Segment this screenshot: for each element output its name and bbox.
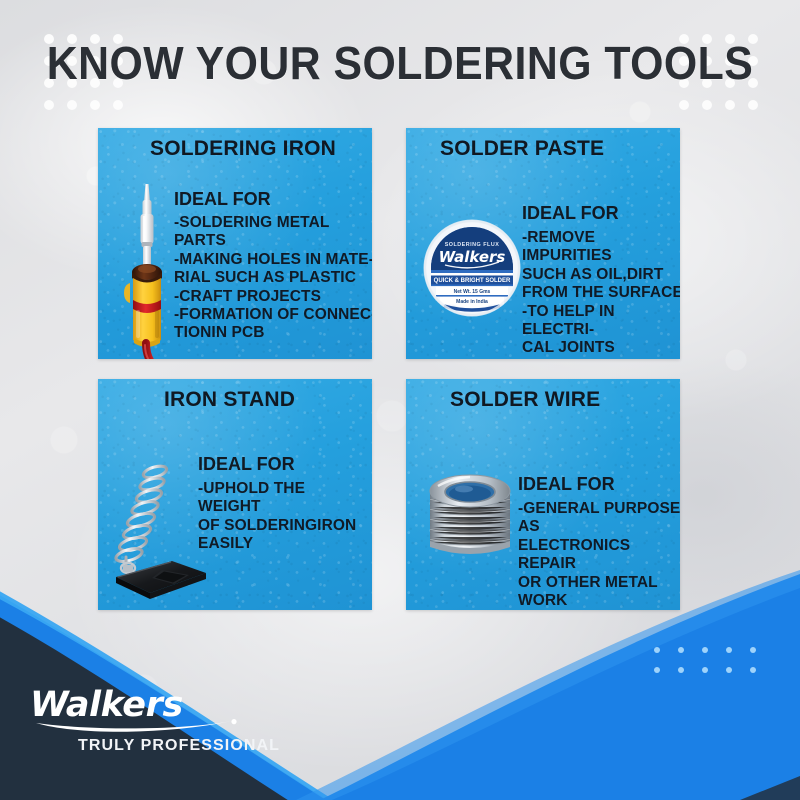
card-solder-paste[interactable]: SOLDER PASTE xyxy=(406,128,680,359)
footer-brand-name: Walkers xyxy=(30,688,290,723)
tin-origin-text: Made in India xyxy=(456,299,488,305)
ideal-label-soldering-iron: IDEAL FOR xyxy=(174,190,372,210)
card-title-soldering-iron: SOLDERING IRON xyxy=(106,138,364,160)
poster-root: KNOW YOUR SOLDERING TOOLS SOLDERING IRON xyxy=(0,0,800,800)
card-title-iron-stand: IRON STAND xyxy=(106,389,364,411)
card-solder-wire[interactable]: SOLDER WIRE xyxy=(406,379,680,610)
bullets-solder-wire: -GENERAL PURPOSE AS ELECTRONICS REPAIR O… xyxy=(518,500,680,610)
bullets-soldering-iron: -SOLDERING METAL PARTS -MAKING HOLES IN … xyxy=(174,214,372,343)
solder-wire-spool-icon xyxy=(422,467,518,571)
tool-card-grid: SOLDERING IRON xyxy=(98,128,680,610)
bullets-iron-stand: -UPHOLD THE WEIGHT OF SOLDERINGIRON EASI… xyxy=(198,480,372,554)
card-soldering-iron[interactable]: SOLDERING IRON xyxy=(98,128,372,359)
card-title-solder-paste: SOLDER PASTE xyxy=(414,138,672,160)
footer-tagline: TRULY PROFESSIONAL xyxy=(78,737,290,755)
tin-banner-text: QUICK & BRIGHT SOLDER xyxy=(434,278,511,284)
ideal-label-iron-stand: IDEAL FOR xyxy=(198,455,372,475)
tin-weight-text: Net Wt. 15 Gms xyxy=(454,289,491,295)
ideal-label-solder-wire: IDEAL FOR xyxy=(518,475,680,495)
page-title: KNOW YOUR SOLDERING TOOLS xyxy=(28,36,772,90)
card-title-solder-wire: SOLDER WIRE xyxy=(414,389,672,411)
card-iron-stand[interactable]: IRON STAND xyxy=(98,379,372,610)
footer-dot-grid xyxy=(654,647,756,673)
iron-stand-icon xyxy=(110,457,206,597)
solder-paste-tin-icon: SOLDERING FLUX Walkers QUICK & BRIGHT SO… xyxy=(422,218,522,318)
footer-logo: Walkers TRULY PROFESSIONAL xyxy=(30,688,290,755)
bullets-solder-paste: -REMOVE IMPURITIES SUCH AS OIL,DIRT FROM… xyxy=(522,229,680,358)
ideal-label-solder-paste: IDEAL FOR xyxy=(522,204,680,224)
